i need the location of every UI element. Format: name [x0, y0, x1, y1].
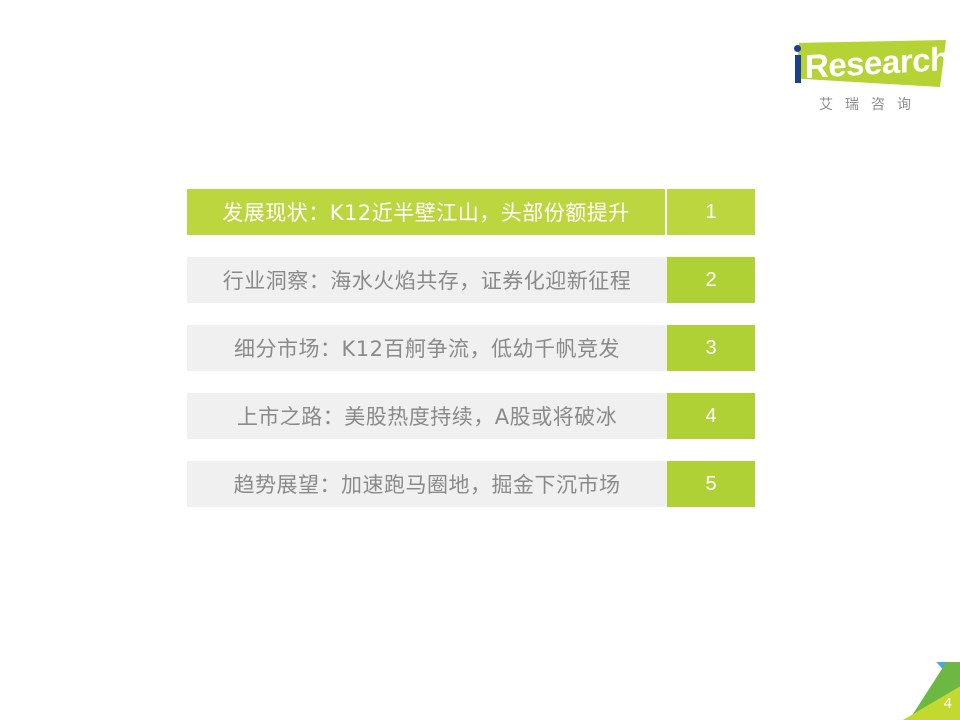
agenda-item-label: 趋势展望：加速跑马圈地，掘金下沉市场 — [187, 461, 667, 507]
logo-wordmark: Research — [805, 40, 950, 86]
logo-mark: Research — [778, 38, 950, 90]
agenda-item-number: 3 — [667, 325, 755, 371]
agenda-row[interactable]: 行业洞察：海水火焰共存，证券化迎新征程 2 — [187, 257, 755, 303]
agenda-item-label: 上市之路：美股热度持续，A股或将破冰 — [187, 393, 667, 439]
agenda-item-number: 5 — [667, 461, 755, 507]
agenda-row[interactable]: 细分市场：K12百舸争流，低幼千帆竞发 3 — [187, 325, 755, 371]
logo-subtitle: 艾瑞咨询 — [792, 94, 950, 114]
agenda-item-label: 发展现状：K12近半壁江山，头部份额提升 — [187, 189, 667, 235]
corner-decoration: 4 — [898, 662, 960, 720]
agenda-item-number: 1 — [667, 189, 755, 235]
agenda-list: 发展现状：K12近半壁江山，头部份额提升 1 行业洞察：海水火焰共存，证券化迎新… — [187, 189, 755, 507]
page-number: 4 — [944, 695, 952, 712]
logo-i-stem-icon — [795, 55, 801, 83]
agenda-item-label: 行业洞察：海水火焰共存，证券化迎新征程 — [187, 257, 667, 303]
iresearch-logo: Research 艾瑞咨询 — [778, 38, 950, 120]
agenda-row[interactable]: 趋势展望：加速跑马圈地，掘金下沉市场 5 — [187, 461, 755, 507]
agenda-item-number: 4 — [667, 393, 755, 439]
agenda-row[interactable]: 上市之路：美股热度持续，A股或将破冰 4 — [187, 393, 755, 439]
logo-i-dot-icon — [794, 45, 801, 52]
agenda-row[interactable]: 发展现状：K12近半壁江山，头部份额提升 1 — [187, 189, 755, 235]
slide-canvas: Research 艾瑞咨询 发展现状：K12近半壁江山，头部份额提升 1 行业洞… — [0, 0, 960, 720]
agenda-item-number: 2 — [667, 257, 755, 303]
agenda-item-label: 细分市场：K12百舸争流，低幼千帆竞发 — [187, 325, 667, 371]
